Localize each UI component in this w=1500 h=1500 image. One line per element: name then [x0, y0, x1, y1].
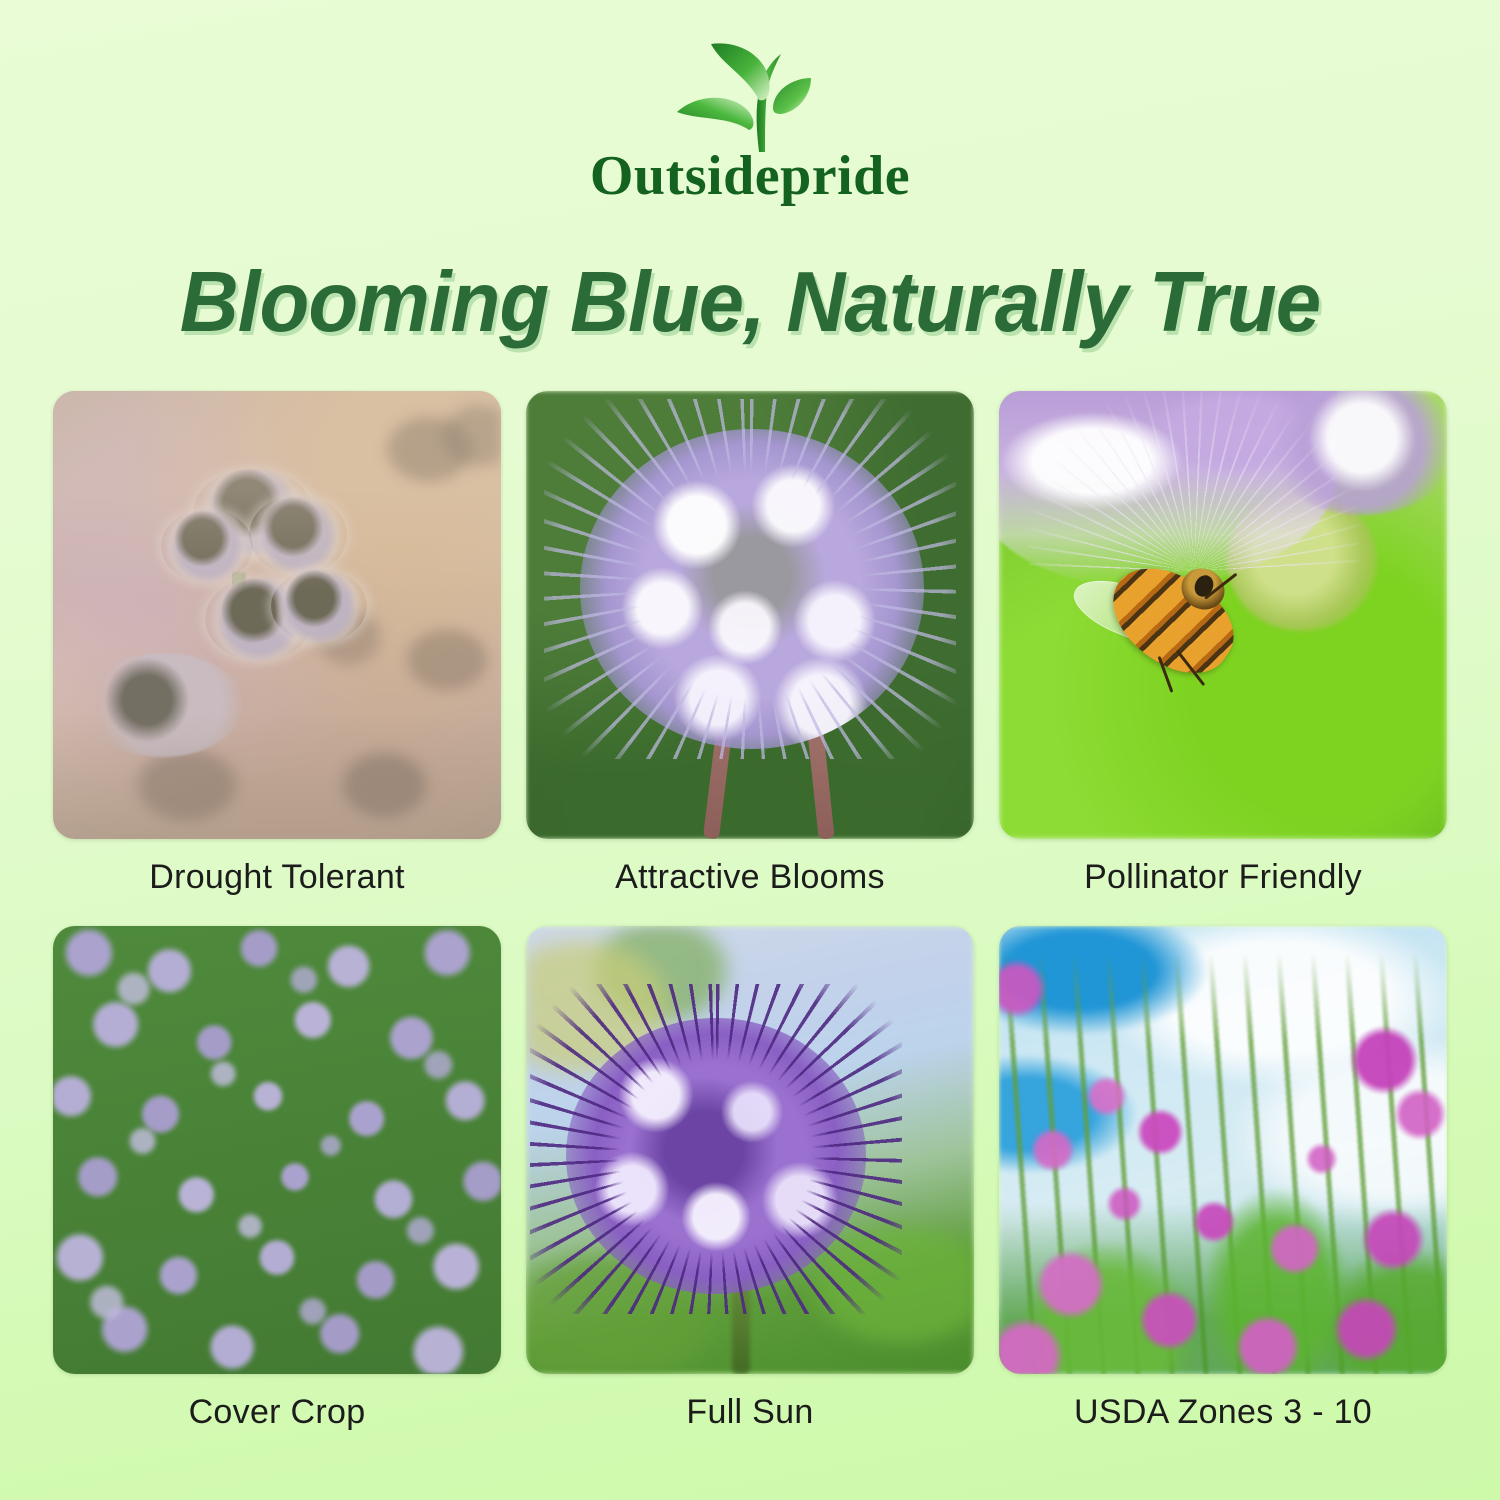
flower-field: [999, 926, 1447, 1374]
full-sun-photo: [526, 926, 974, 1374]
attractive-blooms-photo: [526, 391, 974, 839]
usda-zones-photo: [999, 926, 1447, 1374]
feature-caption: Pollinator Friendly: [999, 857, 1447, 898]
flower-stamens: [1029, 391, 1359, 571]
infographic-page: Outsidepride Blooming Blue, Naturally Tr…: [0, 0, 1500, 1500]
feature-card-usda-zones: USDA Zones 3 - 10: [999, 926, 1447, 1433]
feature-grid: Drought Tolerant Attractive Blooms: [53, 391, 1447, 1433]
feature-card-full-sun: Full Sun: [526, 926, 974, 1433]
feature-card-pollinator-friendly: Pollinator Friendly: [999, 391, 1447, 898]
brand-wordmark: Outsidepride: [0, 148, 1500, 204]
feature-caption: Attractive Blooms: [526, 857, 974, 898]
leaf-sprig-icon: [655, 34, 845, 154]
brand-logo: Outsidepride: [0, 34, 1500, 204]
cover-crop-photo: [53, 926, 501, 1374]
feature-caption: Drought Tolerant: [53, 857, 501, 898]
pollinator-friendly-photo: [999, 391, 1447, 839]
feature-card-attractive-blooms: Attractive Blooms: [526, 391, 974, 898]
flower-field-detail: [53, 926, 501, 1374]
feature-caption: Full Sun: [526, 1392, 974, 1433]
photo-haze: [53, 391, 501, 839]
drought-tolerant-photo: [53, 391, 501, 839]
feature-card-drought-tolerant: Drought Tolerant: [53, 391, 501, 898]
feature-caption: USDA Zones 3 - 10: [999, 1392, 1447, 1433]
feature-card-cover-crop: Cover Crop: [53, 926, 501, 1433]
page-title: Blooming Blue, Naturally True: [30, 258, 1470, 347]
flower-stamens: [544, 399, 956, 759]
flower-stamens: [530, 984, 902, 1314]
feature-caption: Cover Crop: [53, 1392, 501, 1433]
